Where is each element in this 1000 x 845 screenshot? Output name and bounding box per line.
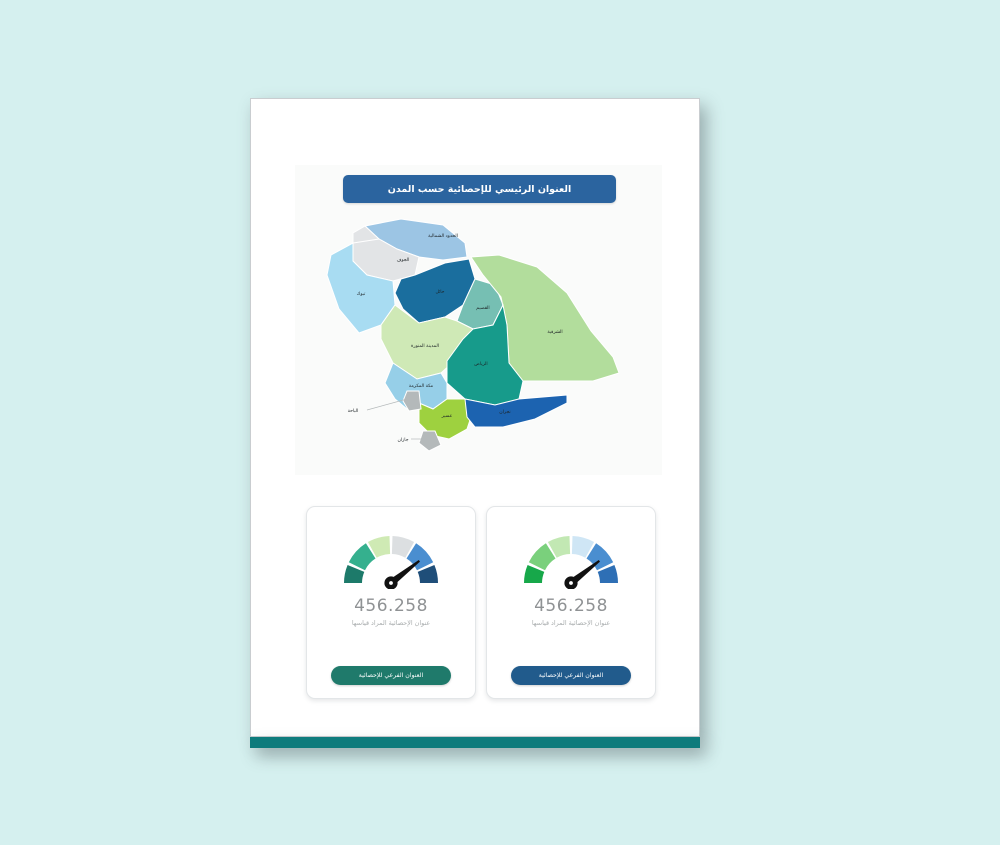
- gauge-card-right[interactable]: 456.258 عنوان الإحصائية المراد قياسها ال…: [486, 506, 656, 699]
- map-label-eastern-province: الشرقية: [547, 330, 562, 335]
- main-title-bar: العنوان الرئيسي للإحصائية حسب المدن: [343, 175, 616, 203]
- gauge-right-subtitle-button[interactable]: العنوان الفرعي للإحصائية: [511, 666, 631, 685]
- map-label-qassim: القصيم: [476, 306, 489, 311]
- gauge-right: [519, 527, 623, 589]
- gauge-left-value: 456.258: [354, 596, 428, 616]
- map-label-al-jouf: الجوف: [397, 257, 410, 263]
- gauge-right-value: 456.258: [534, 596, 608, 616]
- saudi-arabia-map: الحدود الشمالية الجوف تبوك حائل القصيم ا…: [323, 213, 635, 453]
- gauge-right-subtitle: عنوان الإحصائية المراد قياسها: [532, 619, 610, 627]
- map-label-jazan: جازان: [397, 438, 408, 443]
- gauge-card-left[interactable]: 456.258 عنوان الإحصائية المراد قياسها ال…: [306, 506, 476, 699]
- map-panel: العنوان الرئيسي للإحصائية حسب المدن: [295, 165, 662, 475]
- footer-accent-bar: [250, 737, 700, 748]
- map-label-al-bahah: الباحة: [348, 409, 359, 414]
- gauge-left: [339, 527, 443, 589]
- page-title: العنوان الرئيسي للإحصائية حسب المدن: [388, 184, 571, 195]
- gauge-cards-row: 456.258 عنوان الإحصائية المراد قياسها ال…: [306, 506, 656, 701]
- map-label-northern-borders: الحدود الشمالية: [428, 234, 458, 239]
- document-sheet-wrapper: العنوان الرئيسي للإحصائية حسب المدن: [250, 98, 700, 748]
- gauge-right-svg: [519, 527, 623, 589]
- gauge-left-subtitle: عنوان الإحصائية المراد قياسها: [352, 619, 430, 627]
- map-label-makkah: مكة المكرمة: [409, 383, 434, 389]
- map-label-hail: حائل: [436, 290, 445, 295]
- map-label-riyadh: الرياض: [474, 362, 487, 367]
- gauge-right-hub-center: [569, 581, 573, 585]
- gauge-left-svg: [339, 527, 443, 589]
- map-label-najran: نجران: [499, 410, 510, 415]
- document-sheet: العنوان الرئيسي للإحصائية حسب المدن: [250, 98, 700, 737]
- gauge-left-hub-center: [389, 581, 393, 585]
- map-label-madinah: المدينة المنورة: [411, 344, 439, 349]
- map-label-tabuk: تبوك: [357, 292, 367, 297]
- gauge-left-subtitle-button[interactable]: العنوان الفرعي للإحصائية: [331, 666, 451, 685]
- map-label-asir: عسير: [441, 414, 453, 419]
